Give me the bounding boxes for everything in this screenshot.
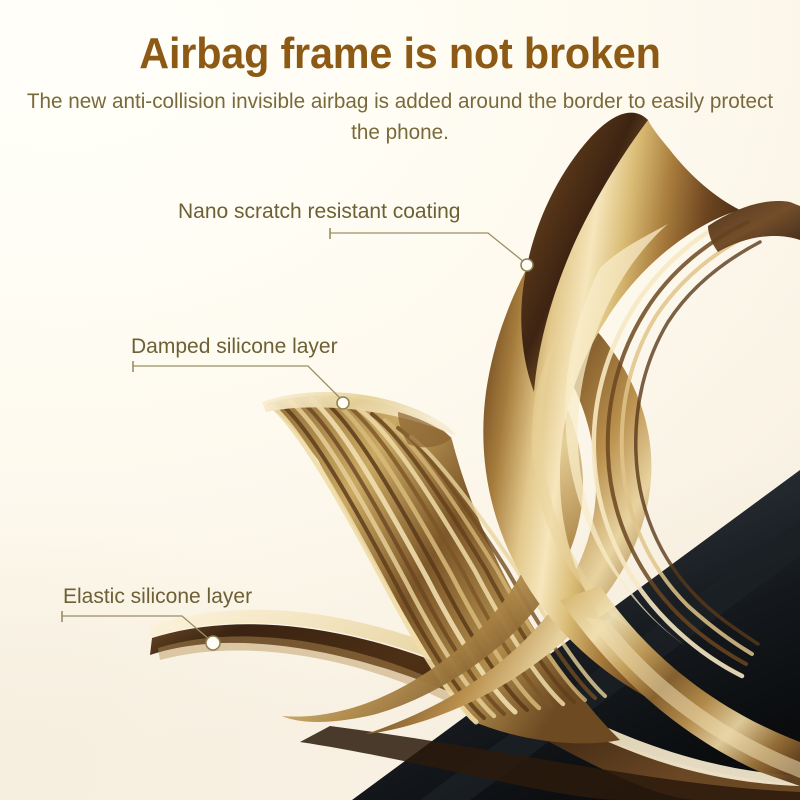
callout-label-nano-scratch-resistant-coating: Nano scratch resistant coating: [178, 199, 460, 225]
leader-dot-damped: [337, 397, 349, 409]
page-subtitle: The new anti-collision invisible airbag …: [14, 86, 786, 148]
callout-label-damped-silicone-layer: Damped silicone layer: [131, 334, 338, 360]
callout-label-elastic-silicone-layer: Elastic silicone layer: [63, 584, 252, 610]
product-feature-poster: Airbag frame is not broken The new anti-…: [0, 0, 800, 800]
page-title: Airbag frame is not broken: [24, 29, 776, 79]
leader-line-nano: [330, 228, 524, 262]
leader-dot-nano: [521, 259, 533, 271]
leader-dot-elastic: [206, 636, 220, 650]
